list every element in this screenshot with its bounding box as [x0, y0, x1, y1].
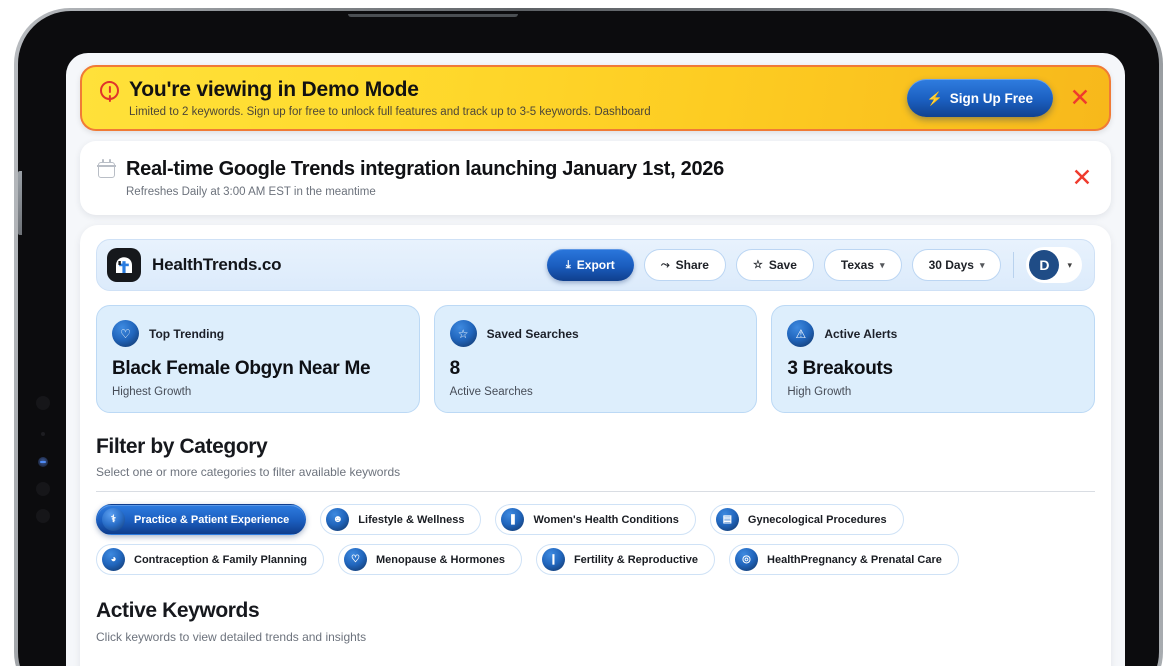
stat-card-footer: High Growth — [787, 386, 1079, 398]
announcement-title-row: Real-time Google Trends integration laun… — [98, 158, 1055, 181]
alert-triangle-icon: ⚠ — [787, 320, 814, 347]
share-button[interactable]: ⤳ Share — [644, 249, 726, 281]
chip-gynecological-procedures[interactable]: ▤ Gynecological Procedures — [710, 504, 904, 535]
sign-up-free-label: Sign Up Free — [950, 91, 1033, 106]
share-icon: ⤳ — [661, 260, 670, 271]
screenshot-stage: You're viewing in Demo Mode Limited to 2… — [0, 0, 1163, 666]
pill-icon: ◕ — [102, 548, 125, 571]
sign-up-free-button[interactable]: ⚡ Sign Up Free — [907, 79, 1053, 117]
bolt-icon: ⚡ — [927, 92, 943, 105]
stat-card-footer: Highest Growth — [112, 386, 404, 398]
heart-shield-icon: ♡ — [344, 548, 367, 571]
announcement-close-icon[interactable]: ✕ — [1067, 163, 1097, 193]
save-label: Save — [769, 258, 797, 272]
brand-name: HealthTrends.co — [152, 255, 281, 275]
chip-label: Menopause & Hormones — [376, 554, 505, 566]
demo-banner-title-row: You're viewing in Demo Mode — [100, 78, 907, 102]
alert-circle-icon — [100, 81, 119, 100]
drop-icon: ❚ — [501, 508, 524, 531]
stat-card-top-trending[interactable]: ♡ Top Trending Black Female Obgyn Near M… — [96, 305, 420, 413]
stat-card-label: Top Trending — [149, 327, 224, 341]
chevron-down-icon: ▾ — [880, 260, 885, 271]
demo-banner-subtitle: Limited to 2 keywords. Sign up for free … — [129, 106, 907, 118]
filter-section-subtitle: Select one or more categories to filter … — [96, 465, 1095, 479]
tablet-sensor-pin — [41, 432, 45, 436]
announcement-title: Real-time Google Trends integration laun… — [126, 158, 724, 181]
tablet-top-notch — [348, 14, 518, 17]
chevron-down-icon: ▾ — [1067, 260, 1072, 271]
keywords-section-title: Active Keywords — [96, 599, 1095, 623]
announcement-banner: Real-time Google Trends integration laun… — [80, 141, 1111, 215]
tablet-sensor-dot-3 — [36, 509, 50, 523]
heart-icon: ♡ — [112, 320, 139, 347]
tablet-status-led-icon — [38, 457, 48, 467]
stat-card-value: 8 — [450, 358, 742, 380]
demo-banner-text: You're viewing in Demo Mode Limited to 2… — [100, 78, 907, 118]
star-icon: ☆ — [753, 260, 763, 271]
timerange-select[interactable]: 30 Days ▾ — [912, 249, 1002, 281]
dashboard-toolbar: HealthTrends.co ⤓ Export ⤳ Share ☆ — [96, 239, 1095, 291]
tablet-camera-dot — [36, 396, 50, 410]
chip-label: Practice & Patient Experience — [134, 514, 289, 526]
chip-label: Lifestyle & Wellness — [358, 514, 464, 526]
star-icon: ☆ — [450, 320, 477, 347]
stethoscope-icon: ⚕ — [102, 508, 125, 531]
brand-block: HealthTrends.co — [107, 248, 537, 282]
tablet-side-button[interactable] — [18, 171, 22, 235]
chip-label: Gynecological Procedures — [748, 514, 887, 526]
chip-healthpregnancy-prenatal-care[interactable]: ◎ HealthPregnancy & Prenatal Care — [729, 544, 959, 575]
region-select[interactable]: Texas ▾ — [824, 249, 902, 281]
filter-section-divider — [96, 491, 1095, 492]
chip-label: HealthPregnancy & Prenatal Care — [767, 554, 942, 566]
account-menu[interactable]: D ▾ — [1026, 247, 1082, 283]
category-chips: ⚕ Practice & Patient Experience ☻ Lifest… — [96, 504, 1095, 575]
demo-banner-close-icon[interactable]: ✕ — [1065, 83, 1095, 113]
stat-card-value: 3 Breakouts — [787, 358, 1079, 380]
tablet-screen: You're viewing in Demo Mode Limited to 2… — [66, 53, 1125, 666]
chip-menopause-hormones[interactable]: ♡ Menopause & Hormones — [338, 544, 522, 575]
stat-card-footer: Active Searches — [450, 386, 742, 398]
stat-card-saved-searches[interactable]: ☆ Saved Searches 8 Active Searches — [434, 305, 758, 413]
filter-section-title: Filter by Category — [96, 435, 1095, 459]
announcement-subtitle: Refreshes Daily at 3:00 AM EST in the me… — [126, 186, 1055, 198]
chevron-down-icon: ▾ — [980, 260, 985, 271]
healthtrends-logo-icon — [107, 248, 141, 282]
stat-card-header: ♡ Top Trending — [112, 320, 404, 347]
chip-label: Contraception & Family Planning — [134, 554, 307, 566]
chip-lifestyle-wellness[interactable]: ☻ Lifestyle & Wellness — [320, 504, 481, 535]
download-icon: ⤓ — [566, 260, 571, 271]
chip-womens-health-conditions[interactable]: ❚ Women's Health Conditions — [495, 504, 695, 535]
save-button[interactable]: ☆ Save — [736, 249, 814, 281]
calendar-icon — [98, 162, 115, 178]
spiral-icon: ◎ — [735, 548, 758, 571]
stat-card-active-alerts[interactable]: ⚠ Active Alerts 3 Breakouts High Growth — [771, 305, 1095, 413]
chip-label: Fertility & Reproductive — [574, 554, 698, 566]
keywords-section-subtitle: Click keywords to view detailed trends a… — [96, 630, 1095, 644]
announcement-text: Real-time Google Trends integration laun… — [98, 158, 1055, 198]
chip-practice-patient-experience[interactable]: ⚕ Practice & Patient Experience — [96, 504, 306, 535]
stat-card-label: Active Alerts — [824, 327, 897, 341]
tablet-frame-body: You're viewing in Demo Mode Limited to 2… — [18, 11, 1159, 666]
toolbar-divider — [1013, 252, 1014, 278]
demo-banner-title: You're viewing in Demo Mode — [129, 78, 419, 102]
chip-label: Women's Health Conditions — [533, 514, 678, 526]
dashboard-panel: HealthTrends.co ⤓ Export ⤳ Share ☆ — [80, 225, 1111, 666]
stat-card-label: Saved Searches — [487, 327, 579, 341]
stat-card-header: ☆ Saved Searches — [450, 320, 742, 347]
clipboard-icon: ▤ — [716, 508, 739, 531]
stat-card-value: Black Female Obgyn Near Me — [112, 358, 404, 380]
avatar: D — [1029, 250, 1059, 280]
stat-card-header: ⚠ Active Alerts — [787, 320, 1079, 347]
chip-fertility-reproductive[interactable]: ❙ Fertility & Reproductive — [536, 544, 715, 575]
export-button[interactable]: ⤓ Export — [547, 249, 634, 281]
thermometer-icon: ❙ — [542, 548, 565, 571]
app-page: You're viewing in Demo Mode Limited to 2… — [66, 53, 1125, 666]
chip-contraception-family-planning[interactable]: ◕ Contraception & Family Planning — [96, 544, 324, 575]
demo-mode-banner: You're viewing in Demo Mode Limited to 2… — [80, 65, 1111, 131]
stat-cards: ♡ Top Trending Black Female Obgyn Near M… — [96, 305, 1095, 413]
timerange-select-label: 30 Days — [929, 258, 974, 272]
region-select-label: Texas — [841, 258, 874, 272]
person-wellness-icon: ☻ — [326, 508, 349, 531]
tablet-sensor-dot-2 — [36, 482, 50, 496]
export-label: Export — [577, 258, 615, 272]
share-label: Share — [676, 258, 709, 272]
